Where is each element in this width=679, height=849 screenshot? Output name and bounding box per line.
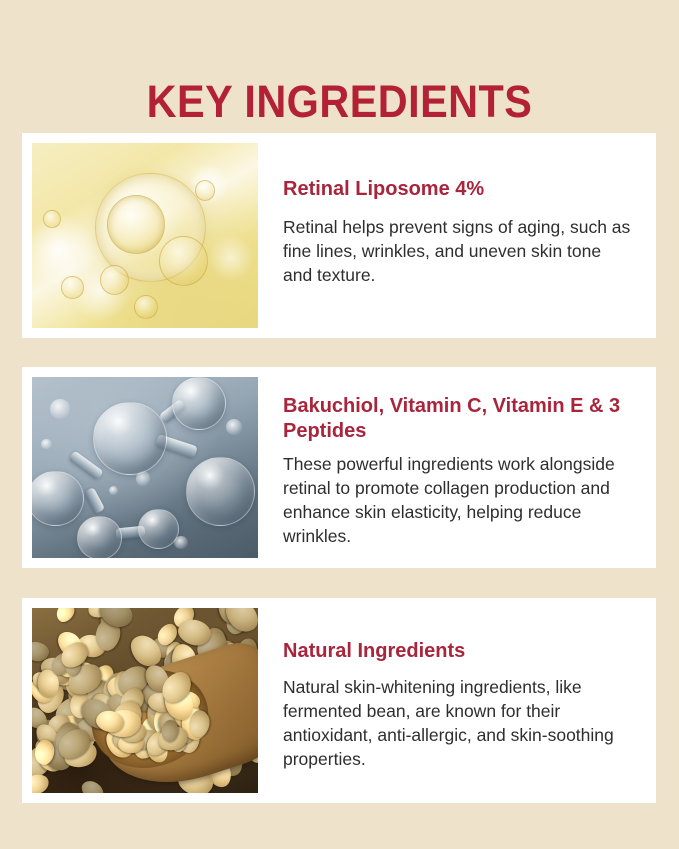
ingredient-card: Natural Ingredients Natural skin-whiteni… xyxy=(22,598,656,803)
ingredient-description: Natural skin-whitening ingredients, like… xyxy=(283,675,634,771)
card-body: Retinal Liposome 4% Retinal helps preven… xyxy=(258,143,646,287)
card-body: Natural Ingredients Natural skin-whiteni… xyxy=(258,608,646,771)
ingredient-card: Retinal Liposome 4% Retinal helps preven… xyxy=(22,133,656,338)
soybean xyxy=(78,777,106,793)
bubble-icon xyxy=(134,295,159,319)
particle-icon xyxy=(41,439,52,450)
particle-icon xyxy=(50,399,70,419)
ingredient-description: These powerful ingredients work alongsid… xyxy=(283,452,644,548)
ingredient-description: Retinal helps prevent signs of aging, su… xyxy=(283,215,634,287)
molecule-sphere xyxy=(172,377,226,430)
molecule-sphere xyxy=(77,516,122,558)
molecule-sphere xyxy=(138,509,178,549)
molecule-sphere xyxy=(93,402,167,475)
card-body: Bakuchiol, Vitamin C, Vitamin E & 3 Pept… xyxy=(258,377,646,548)
soybeans-spoon-image xyxy=(32,608,258,793)
particle-icon xyxy=(109,486,118,495)
bubble-icon xyxy=(43,210,61,229)
particle-icon xyxy=(226,419,242,435)
ingredient-heading: Bakuchiol, Vitamin C, Vitamin E & 3 Pept… xyxy=(283,394,644,444)
ingredient-heading: Retinal Liposome 4% xyxy=(283,177,634,202)
bubble-icon xyxy=(195,180,215,201)
molecule-sphere xyxy=(186,457,256,526)
liposome-oil-bubbles-image xyxy=(32,143,258,328)
soybean xyxy=(32,772,50,793)
bubble-icon xyxy=(61,276,83,298)
soybeans-artwork xyxy=(32,608,258,793)
molecule-structure-image xyxy=(32,377,258,558)
soybean xyxy=(53,608,78,625)
ingredient-heading: Natural Ingredients xyxy=(283,639,634,664)
liposome-artwork xyxy=(32,143,258,328)
bubble-icon xyxy=(100,265,129,295)
ingredient-card: Bakuchiol, Vitamin C, Vitamin E & 3 Pept… xyxy=(22,367,656,568)
molecule-sphere xyxy=(32,471,84,525)
page-title: KEY INGREDIENTS xyxy=(27,78,652,126)
bubble-icon xyxy=(159,236,208,286)
key-ingredients-page: KEY INGREDIENTS Retinal Liposome 4% Reti… xyxy=(0,0,679,849)
molecule-artwork xyxy=(32,377,258,558)
molecule-bond xyxy=(84,487,105,514)
